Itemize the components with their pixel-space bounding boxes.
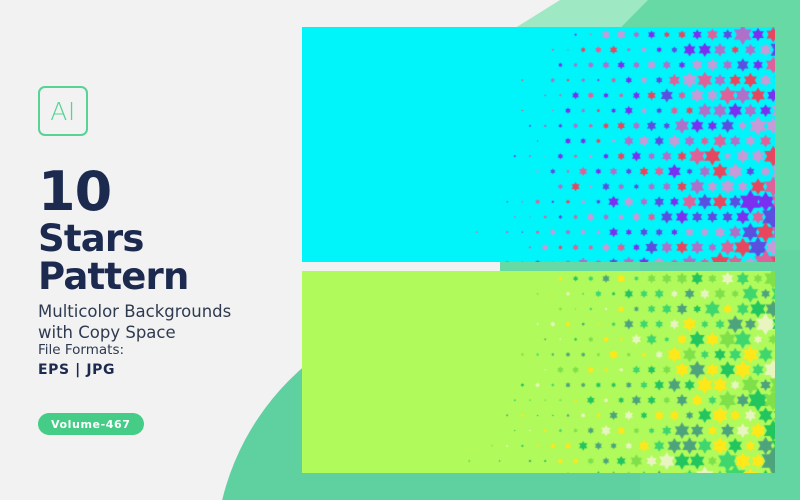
cyan-star-pattern [302, 27, 775, 262]
page-title: Stars Pattern [38, 220, 298, 295]
preview-panel-cyan[interactable] [302, 27, 775, 262]
file-formats-block: File Formats: EPS | JPG [38, 341, 124, 381]
file-formats-value: EPS | JPG [38, 361, 124, 381]
ai-badge-label: AI [50, 99, 75, 124]
poster-canvas: AI 10 Stars Pattern Multicolor Backgroun… [0, 0, 800, 500]
info-column: AI 10 Stars Pattern Multicolor Backgroun… [38, 0, 288, 500]
volume-badge: Volume-467 [38, 413, 144, 435]
item-count: 10 [38, 166, 298, 218]
page-subtitle-line-1: Multicolor Backgrounds [38, 301, 298, 322]
preview-panel-green[interactable] [302, 271, 775, 473]
page-subtitle: Multicolor Backgrounds with Copy Space [38, 301, 298, 343]
title-block: 10 Stars Pattern Multicolor Backgrounds … [38, 166, 298, 344]
green-star-pattern [302, 271, 775, 473]
ai-format-badge: AI [38, 86, 88, 136]
file-formats-label: File Formats: [38, 341, 124, 359]
volume-badge-label: Volume-467 [51, 419, 131, 430]
